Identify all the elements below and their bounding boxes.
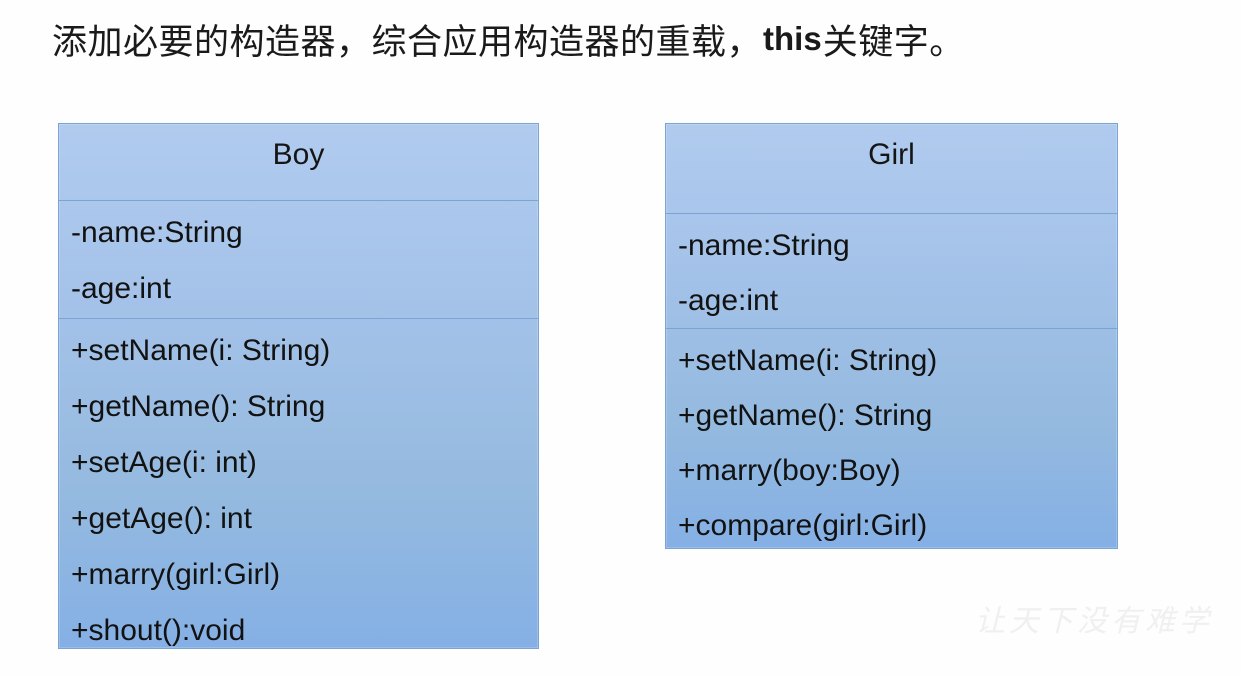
uml-method: +compare(girl:Girl) [678, 498, 1117, 553]
page-title: 添加必要的构造器，综合应用构造器的重载，this关键字。 [52, 8, 1212, 70]
uml-class-name-boy: Boy [59, 124, 538, 201]
uml-class-girl: Girl -name:String -age:int +setName(i: S… [665, 123, 1118, 549]
uml-attributes-girl: -name:String -age:int [666, 214, 1117, 329]
uml-method: +shout():void [71, 603, 538, 659]
uml-method: +getAge(): int [71, 491, 538, 547]
slide-canvas: 添加必要的构造器，综合应用构造器的重载，this关键字。 Boy -name:S… [0, 0, 1241, 678]
watermark: 让天下没有难学 [975, 600, 1225, 648]
uml-methods-girl: +setName(i: String) +getName(): String +… [666, 329, 1117, 559]
uml-attributes-boy: -name:String -age:int [59, 201, 538, 319]
page-title-text-before: 添加必要的构造器，综合应用构造器的重载， [52, 14, 762, 65]
page-title-text-after: 关键字。 [823, 14, 965, 65]
uml-class-name-girl: Girl [666, 124, 1117, 214]
uml-method: +getName(): String [71, 379, 538, 435]
uml-attribute: -name:String [678, 218, 1117, 273]
uml-method: +setName(i: String) [71, 323, 538, 379]
uml-class-boy: Boy -name:String -age:int +setName(i: St… [58, 123, 539, 649]
uml-method: +setAge(i: int) [71, 435, 538, 491]
uml-methods-boy: +setName(i: String) +getName(): String +… [59, 319, 538, 665]
uml-method: +marry(boy:Boy) [678, 443, 1117, 498]
page-title-keyword: this [762, 20, 823, 58]
uml-method: +setName(i: String) [678, 333, 1117, 388]
uml-method: +marry(girl:Girl) [71, 547, 538, 603]
uml-attribute: -age:int [678, 273, 1117, 328]
uml-attribute: -age:int [71, 261, 538, 317]
uml-method: +getName(): String [678, 388, 1117, 443]
uml-attribute: -name:String [71, 205, 538, 261]
